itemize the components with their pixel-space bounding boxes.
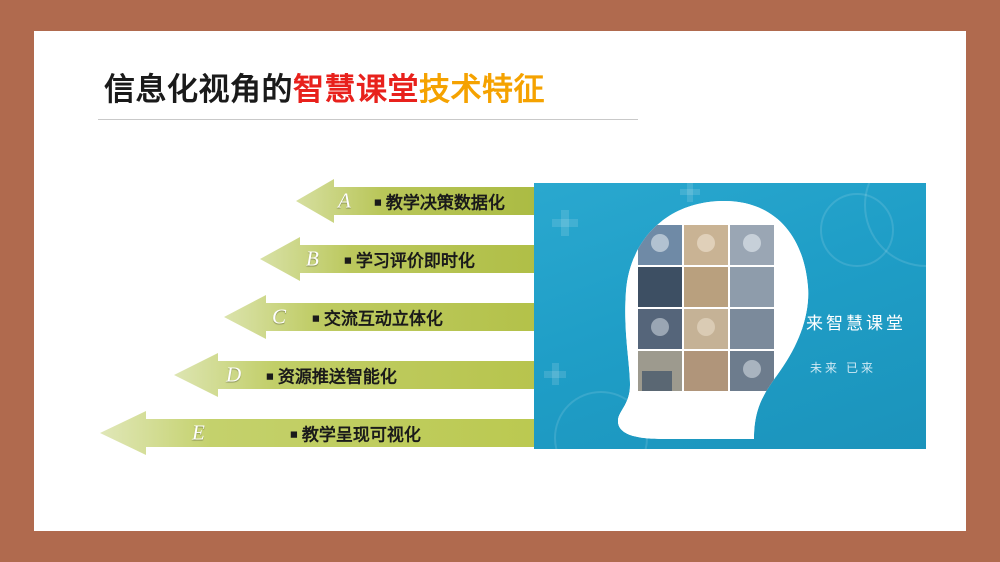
arrow-list: A ■教学决策数据化 B ■学习评价即时化 (64, 171, 564, 471)
arrow-letter-c: C (272, 305, 286, 330)
arrow-text-e-bold: 教学呈现 (302, 426, 370, 445)
list-item[interactable]: A ■教学决策数据化 (296, 179, 564, 223)
arrow-text-e-rest: 可视化 (370, 426, 421, 445)
arrow-text-a-bold: 教学决策 (386, 194, 454, 213)
arrow-text-c: ■交流互动立体化 (312, 305, 443, 330)
title-text: 信息化视角的智慧课堂技术特征 (104, 68, 894, 112)
arrow-letter-a: A (338, 189, 351, 214)
arrow-text-d-rest: 智能化 (346, 368, 397, 387)
cross-icon (552, 363, 559, 385)
title-part-1: 信息化视角的 (104, 72, 293, 107)
arrow-text-a-rest: 数据化 (454, 194, 505, 213)
slide-canvas: 信息化视角的智慧课堂技术特征 A ■教学决策数据化 (34, 31, 966, 531)
arrow-text-b: ■学习评价即时化 (344, 247, 475, 272)
bullet-icon: ■ (312, 311, 320, 326)
arrow-text-b-bold: 学习评价 (356, 252, 424, 271)
title-part-2: 智慧课堂 (293, 72, 419, 107)
arrow-text-e: ■教学呈现可视化 (290, 421, 421, 446)
title-divider (98, 119, 638, 120)
picture-caption-main: 未来智慧课堂 (786, 309, 906, 334)
arrow-text-b-rest: 即时化 (424, 252, 475, 271)
arrow-letter-b: B (306, 247, 319, 272)
list-item[interactable]: B ■学习评价即时化 (260, 237, 564, 281)
arrow-letter-d: D (226, 363, 241, 388)
arrow-text-c-bold: 交流互动 (324, 310, 392, 329)
illustration-image: 未来智慧课堂 未来 已来 (534, 183, 926, 449)
arrow-text-d-bold: 资源推送 (278, 368, 346, 387)
bullet-icon: ■ (344, 253, 352, 268)
title-part-3: 技术特征 (419, 72, 545, 107)
bullet-icon: ■ (290, 427, 298, 442)
list-item[interactable]: C ■交流互动立体化 (224, 295, 564, 339)
arrow-letter-e: E (192, 421, 205, 446)
arrow-text-a: ■教学决策数据化 (374, 189, 505, 214)
cross-icon (561, 210, 569, 236)
list-item[interactable]: E ■教学呈现可视化 (100, 411, 564, 455)
bullet-icon: ■ (374, 195, 382, 210)
picture-caption-sub: 未来 已来 (810, 359, 876, 376)
list-item[interactable]: D ■资源推送智能化 (174, 353, 564, 397)
bullet-icon: ■ (266, 369, 274, 384)
arrow-text-d: ■资源推送智能化 (266, 363, 397, 388)
arrow-text-c-rest: 立体化 (392, 310, 443, 329)
